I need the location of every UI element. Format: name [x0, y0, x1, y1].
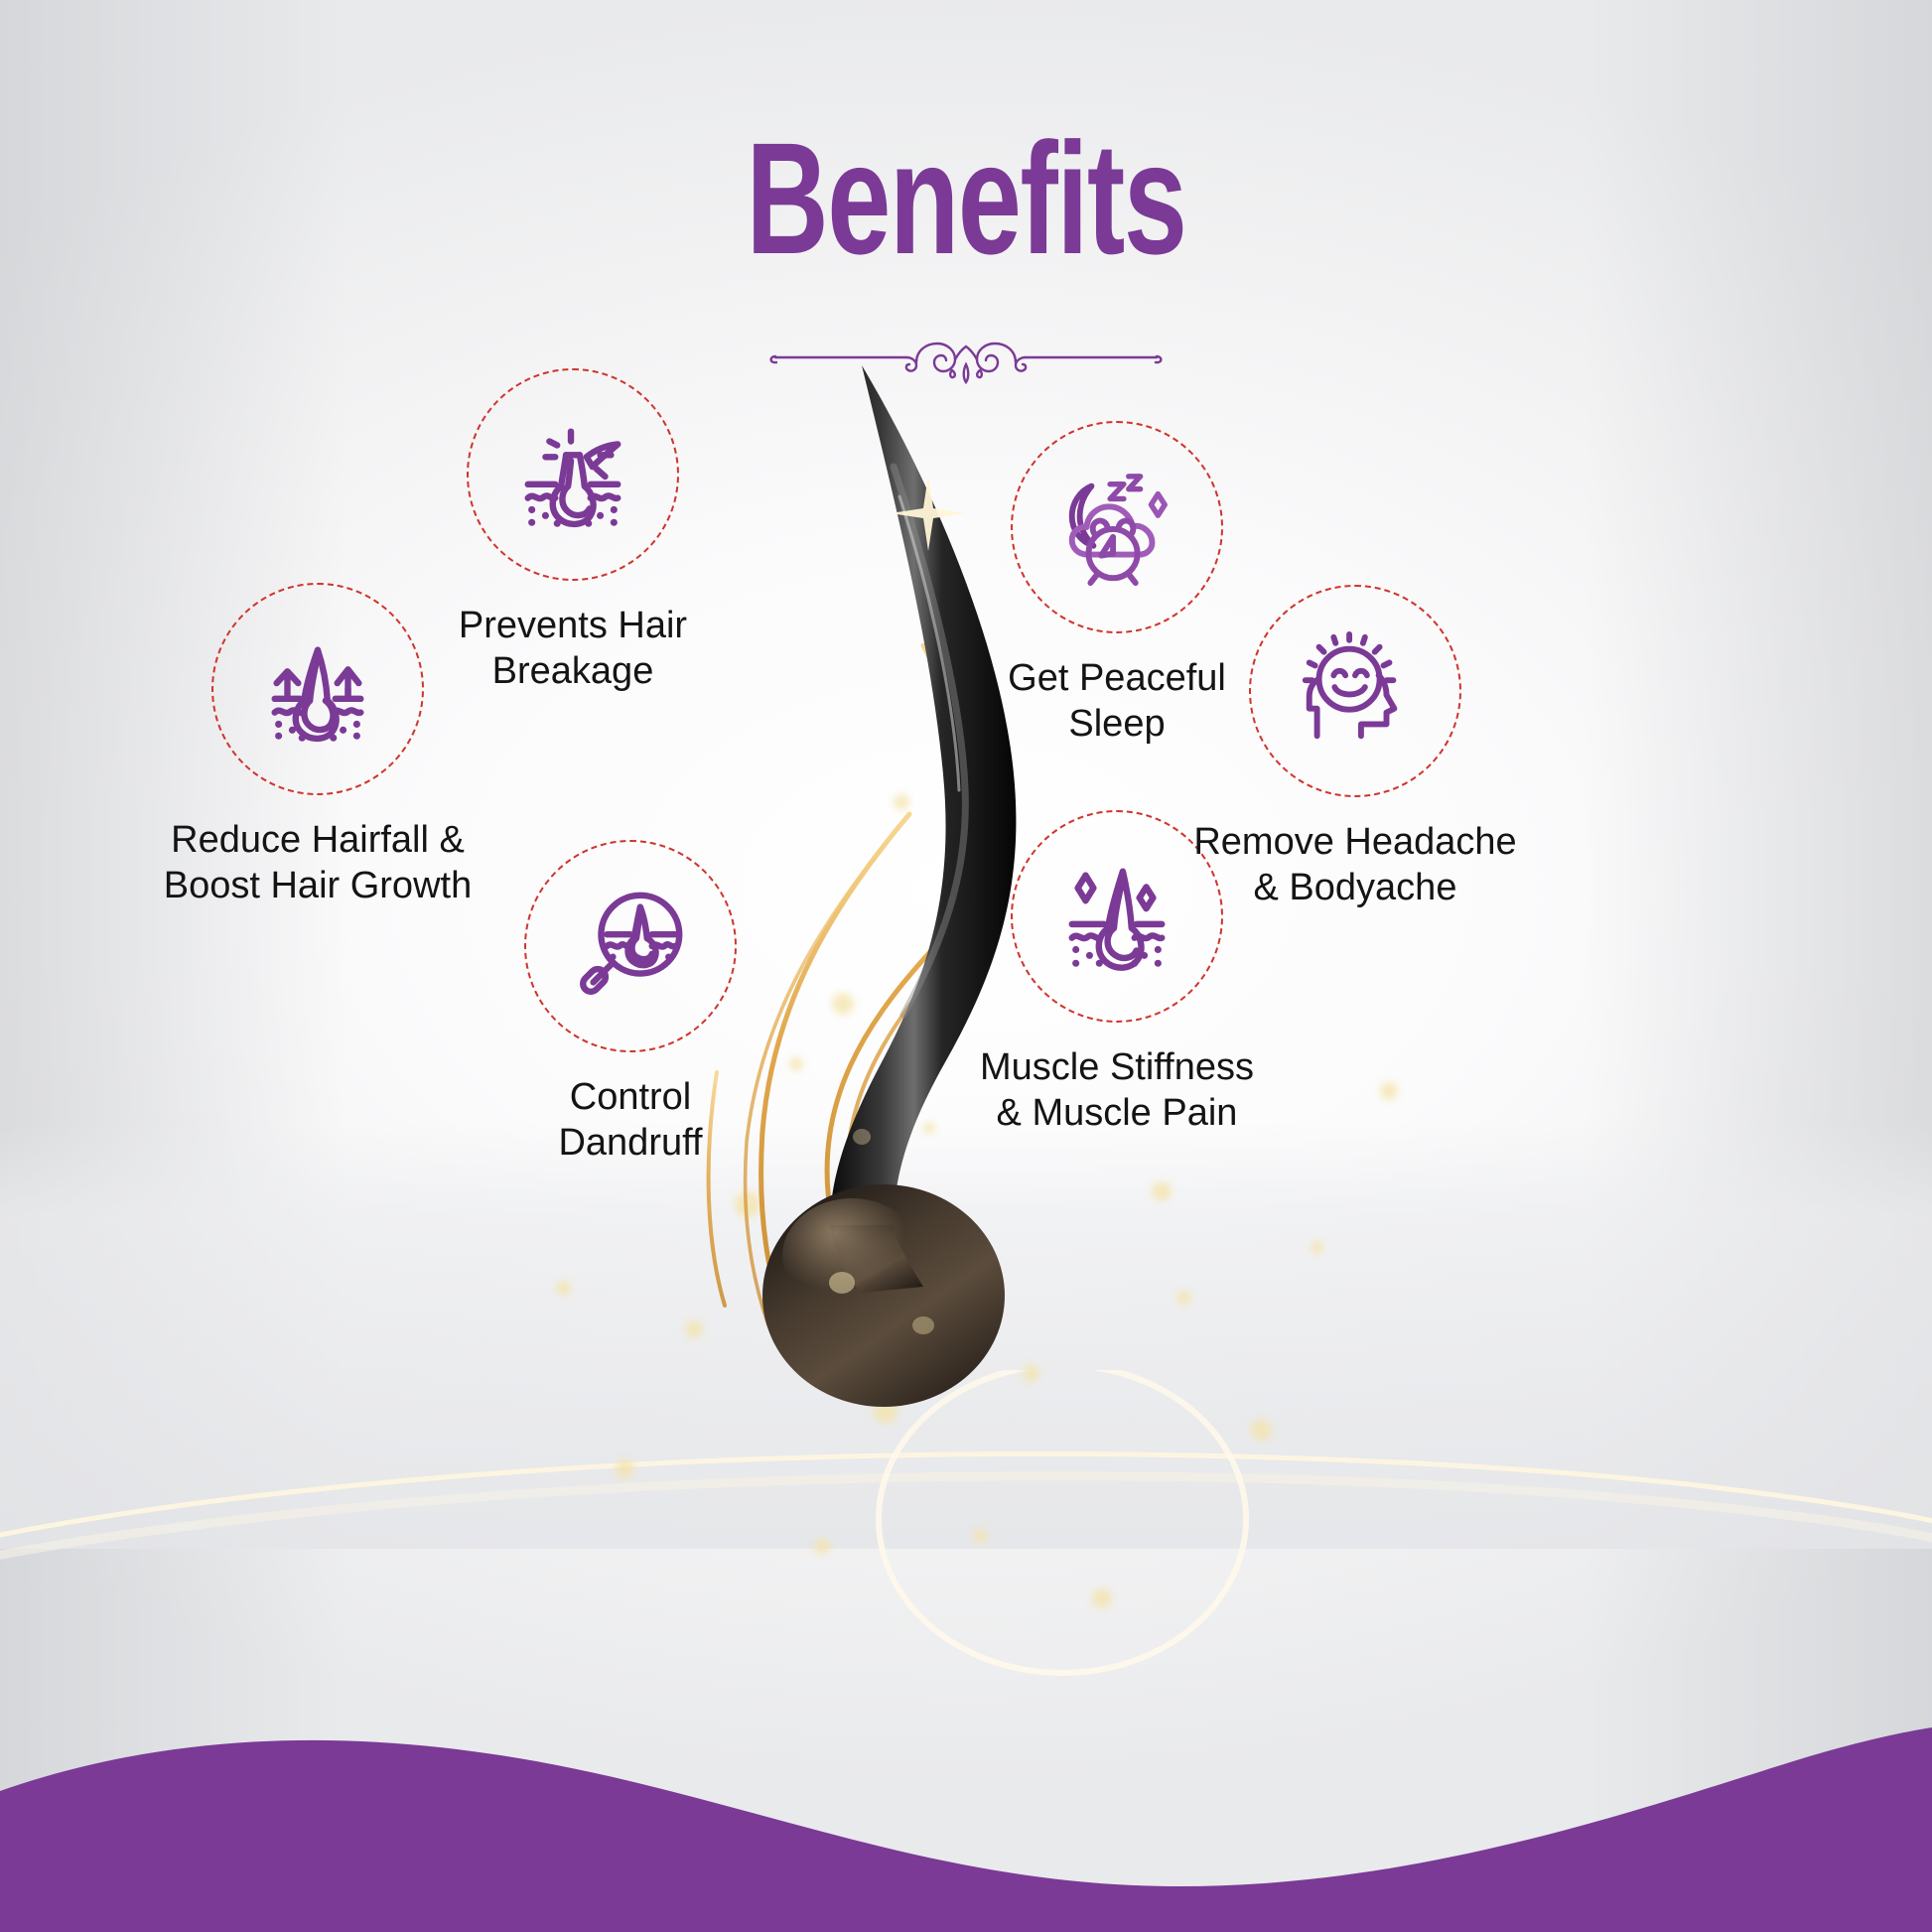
broken-hair-follicle-icon — [510, 412, 635, 537]
benefit-prevents-hair-breakage[interactable]: Prevents Hair Breakage — [389, 368, 757, 695]
benefit-icon-circle — [467, 368, 679, 581]
background-light-streak — [0, 1390, 1932, 1608]
background-bulb-glow-arc — [854, 1370, 1271, 1688]
magnifier-scalp-icon — [568, 884, 693, 1009]
bokeh-particle — [616, 1459, 634, 1478]
benefits-poster: Benefits — [0, 0, 1932, 1932]
moon-cloud-alarm-zzz-icon — [1054, 465, 1179, 590]
bokeh-particle — [814, 1539, 830, 1555]
bokeh-particle — [973, 1529, 987, 1543]
bokeh-particle — [1251, 1420, 1272, 1441]
benefit-label: Muscle Stiffness & Muscle Pain — [898, 1044, 1335, 1137]
page-title: Benefits — [270, 119, 1661, 278]
bottom-purple-wave — [0, 1674, 1932, 1932]
benefit-label: Control Dandruff — [447, 1074, 814, 1167]
hair-growth-arrows-icon — [255, 626, 380, 752]
bokeh-particle — [1380, 1082, 1398, 1100]
bokeh-particle — [556, 1281, 571, 1296]
benefit-remove-headache[interactable]: Remove Headache & Bodyache — [1117, 585, 1593, 911]
benefit-icon-circle — [524, 840, 737, 1052]
bokeh-particle — [1092, 1588, 1112, 1608]
head-profile-smiling-sun-icon — [1293, 628, 1418, 754]
benefit-label: Remove Headache & Bodyache — [1117, 819, 1593, 911]
benefit-label: Prevents Hair Breakage — [389, 603, 757, 695]
benefit-control-dandruff[interactable]: Control Dandruff — [447, 840, 814, 1167]
benefit-icon-circle — [1249, 585, 1461, 797]
